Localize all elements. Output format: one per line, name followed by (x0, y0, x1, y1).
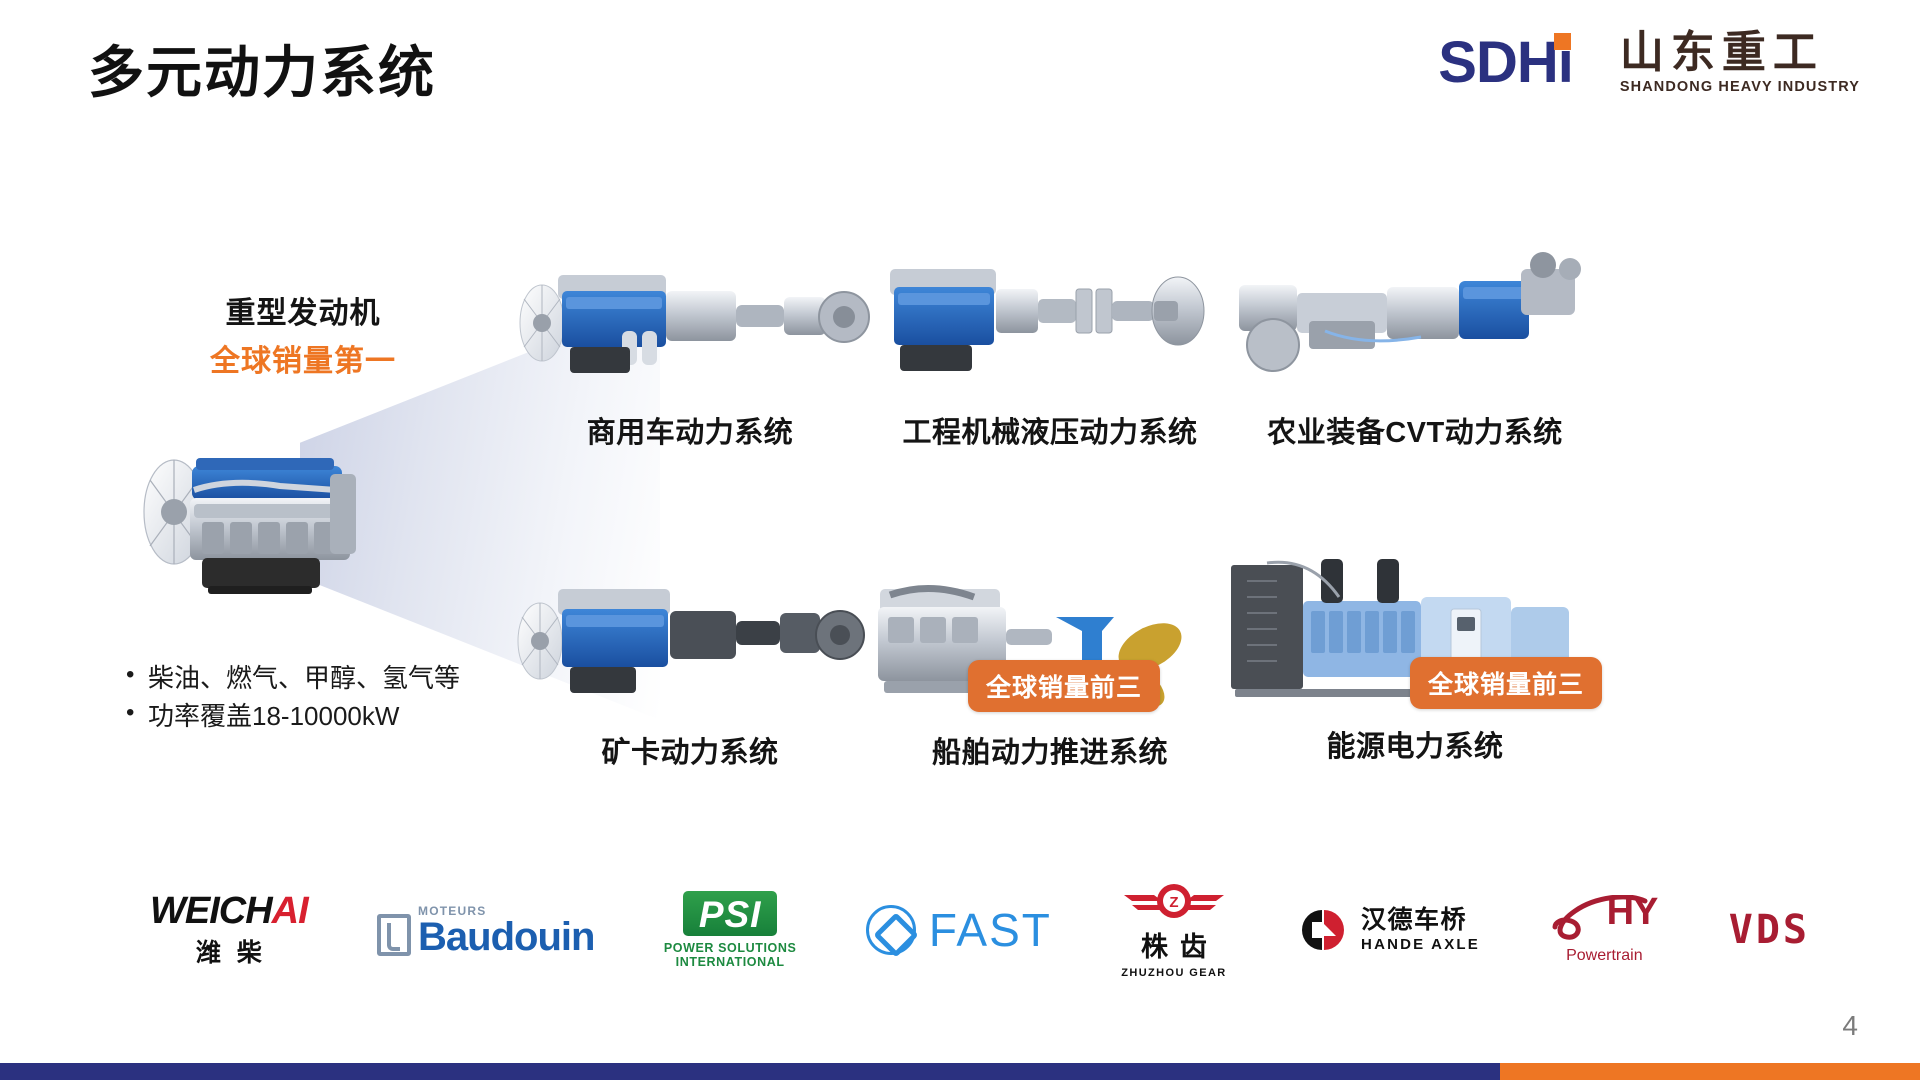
zhuzhou-gear-text-cn: 株齿 (1129, 925, 1219, 964)
hero-caption-line1: 重型发动机 (188, 288, 418, 332)
footer-bar-blue-segment (0, 1063, 1500, 1080)
product-label: 船舶动力推进系统 (860, 729, 1240, 771)
status-badge: 全球销量前三 (968, 660, 1160, 712)
hero-caption-line2: 全球销量第一 (188, 336, 418, 380)
product-card-construction-hydraulic[interactable]: 工程机械液压动力系统 (860, 235, 1240, 451)
brand-name-en: SHANDONG HEAVY INDUSTRY (1620, 79, 1860, 95)
sdhi-logo-mark: SDHi (1438, 35, 1573, 90)
zhuzhou-gear-wings-icon: Z (1122, 881, 1226, 923)
status-badge: 全球销量前三 (1410, 657, 1602, 709)
page-title: 多元动力系统 (88, 28, 436, 109)
hande-axle-text-cn: 汉德车桥 (1361, 907, 1467, 935)
slide: 多元动力系统 SDHi 山东重工 SHANDONG HEAVY INDUSTRY… (0, 0, 1920, 1080)
product-label: 矿卡动力系统 (500, 729, 880, 771)
commercial-vehicle-powertrain-icon (500, 235, 880, 395)
psi-text-sub1: POWER SOLUTIONS (664, 941, 797, 955)
lhy-text-sub: Powertrain (1566, 947, 1642, 965)
sdhi-logo-text: SDHi (1438, 35, 1573, 90)
partner-logo-hande-axle: 汉德车桥 HANDE AXLE (1296, 907, 1480, 954)
fast-text-main: FAST (929, 907, 1052, 953)
psi-text-sub2: INTERNATIONAL (676, 955, 785, 969)
partner-logo-vds: VDS (1729, 907, 1810, 953)
partner-logo-strip: WEICH AI 潍柴 MOTEURS Baudouin PSI POWER S… (150, 880, 1810, 980)
partner-logo-fast: FAST (866, 905, 1052, 955)
hande-axle-text-en: HANDE AXLE (1361, 936, 1480, 953)
list-item: 柴油、燃气、甲醇、氢气等 (122, 660, 552, 698)
product-card-agriculture-cvt[interactable]: 农业装备CVT动力系统 (1225, 235, 1605, 451)
product-image-agriculture-cvt (1225, 235, 1605, 395)
mining-truck-powertrain-icon (500, 555, 880, 715)
product-card-mining-truck[interactable]: 矿卡动力系统 (500, 555, 880, 771)
brand-name-cn: 山东重工 (1620, 30, 1824, 76)
zhuzhou-gear-text-en: ZHUZHOU GEAR (1121, 967, 1226, 979)
hero-caption: 重型发动机 全球销量第一 (188, 288, 418, 380)
partner-logo-baudouin: MOTEURS Baudouin (377, 905, 594, 956)
construction-hydraulic-powertrain-icon (860, 235, 1240, 395)
agriculture-cvt-powertrain-icon (1225, 235, 1605, 395)
baudouin-mark-icon (377, 914, 411, 956)
product-label: 工程机械液压动力系统 (860, 409, 1240, 451)
partner-logo-lhy-powertrain: HY Powertrain (1549, 895, 1659, 965)
weichai-text-main: WEICH (150, 892, 272, 930)
weichai-text-cn: 潍柴 (180, 933, 278, 969)
baudouin-text-main: Baudouin (418, 918, 594, 956)
product-image-construction-hydraulic (860, 235, 1240, 395)
heavy-engine-image (130, 400, 390, 630)
product-label: 商用车动力系统 (500, 409, 880, 451)
logo-divider (1595, 34, 1598, 92)
partner-logo-zhuzhou-gear: Z 株齿 ZHUZHOU GEAR (1121, 881, 1226, 979)
product-image-commercial-vehicle (500, 235, 880, 395)
hande-axle-mark-icon (1296, 908, 1350, 952)
brand-name-block: 山东重工 SHANDONG HEAVY INDUSTRY (1620, 30, 1860, 95)
fast-mark-icon (866, 905, 916, 955)
page-number: 4 (1842, 1010, 1858, 1042)
list-item: 功率覆盖18-10000kW (122, 698, 552, 736)
partner-logo-weichai: WEICH AI 潍柴 (150, 892, 308, 969)
lhy-text-main: HY (1607, 893, 1658, 931)
sdhi-accent-dot-icon (1554, 33, 1571, 50)
footer-bar-orange-segment (1500, 1063, 1920, 1080)
footer-bar (0, 1063, 1920, 1080)
feature-bullet-list: 柴油、燃气、甲醇、氢气等 功率覆盖18-10000kW (122, 660, 552, 735)
psi-text-main: PSI (699, 896, 762, 933)
partner-logo-psi: PSI POWER SOLUTIONS INTERNATIONAL (664, 891, 797, 969)
product-label: 农业装备CVT动力系统 (1225, 409, 1605, 451)
svg-text:Z: Z (1169, 894, 1178, 911)
product-card-marine-propulsion[interactable]: 全球销量前三 船舶动力推进系统 (860, 555, 1240, 771)
product-label: 能源电力系统 (1225, 723, 1605, 765)
vds-text-main: VDS (1729, 907, 1810, 953)
product-image-mining-truck (500, 555, 880, 715)
product-card-commercial-vehicle[interactable]: 商用车动力系统 (500, 235, 880, 451)
weichai-text-accent: AI (272, 892, 308, 930)
product-card-power-generation[interactable]: 全球销量前三 能源电力系统 (1225, 545, 1605, 765)
brand-logo: SDHi 山东重工 SHANDONG HEAVY INDUSTRY (1438, 30, 1860, 95)
